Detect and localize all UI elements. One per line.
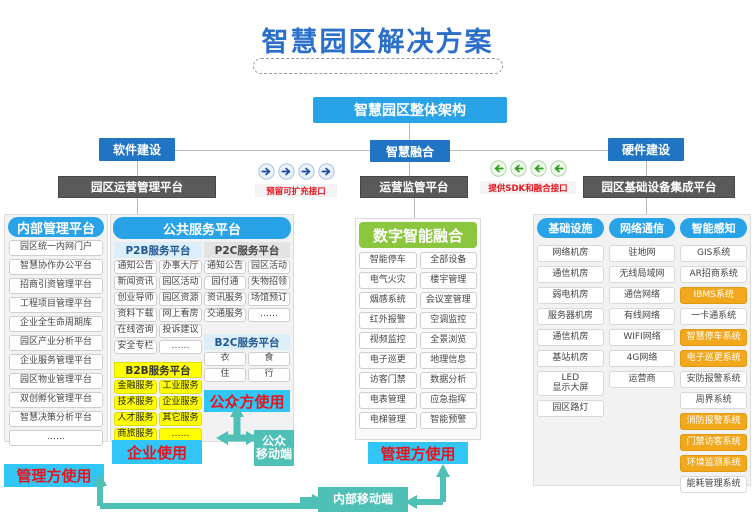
item-cell[interactable]: IBMS系统 xyxy=(680,287,747,304)
platform-park-operation-management: 园区运营管理平台 xyxy=(58,176,216,198)
teal-arrow-cluster-public xyxy=(216,405,258,467)
item-cell[interactable]: 双创孵化管理平台 xyxy=(9,392,103,408)
hardware-column-list: 网络机房通信机房弱电机房服务器机房通信机房基站机房LED 显示大屏园区路灯 xyxy=(537,245,604,417)
item-cell[interactable]: 有线网络 xyxy=(609,308,676,325)
connector-software-panel-drop xyxy=(137,198,138,214)
digital-fusion-header: 数字智能融合 xyxy=(359,222,477,248)
item-cell[interactable]: 弱电机房 xyxy=(537,287,604,304)
item-cell[interactable]: …… xyxy=(9,430,103,446)
page-title: 智慧园区解决方案 xyxy=(0,20,755,59)
item-cell[interactable]: 消防报警系统 xyxy=(680,413,747,430)
item-cell[interactable]: 企业全生命周期库 xyxy=(9,316,103,332)
item-cell[interactable]: 住 xyxy=(204,368,246,382)
item-cell[interactable]: 环境监测系统 xyxy=(680,455,747,472)
item-cell[interactable]: 通信机房 xyxy=(537,266,604,283)
item-cell[interactable]: 行 xyxy=(248,368,290,382)
internal-management-list: 园区统一内网门户智慧协作办公平台招商引资管理平台工程项目管理平台企业全生命周期库… xyxy=(9,240,103,446)
item-cell[interactable]: 交通服务 xyxy=(204,308,246,322)
platform-infrastructure-integration: 园区基础设备集成平台 xyxy=(583,176,735,198)
item-cell[interactable]: 企业服务 xyxy=(159,396,202,410)
item-cell[interactable]: …… xyxy=(248,308,290,322)
item-cell[interactable]: 楼宇管理 xyxy=(420,272,478,289)
item-cell[interactable]: 园付通 xyxy=(204,276,246,290)
connector-hardware-panel-drop xyxy=(646,198,647,214)
item-cell[interactable]: …… xyxy=(159,340,202,354)
item-cell[interactable]: 园区产业分析平台 xyxy=(9,335,103,351)
teal-arrow-right-elbow xyxy=(405,462,465,512)
internal-management-header: 内部管理平台 xyxy=(8,217,104,237)
hardware-column-list: GIS系统AR招商系统IBMS系统一卡通系统智慧停车系统电子巡更系统安防报警系统… xyxy=(680,245,747,493)
item-cell[interactable]: 驻地网 xyxy=(609,245,676,262)
p2b-subheader: P2B服务平台 xyxy=(114,242,202,258)
item-cell[interactable]: 失物招领 xyxy=(248,276,290,290)
item-cell[interactable]: 访客门禁 xyxy=(359,372,417,389)
item-cell[interactable]: 安全专栏 xyxy=(114,340,157,354)
item-cell[interactable]: 网上看房 xyxy=(159,308,202,322)
item-cell[interactable]: 电气火灾 xyxy=(359,272,417,289)
usage-badge-manager-center: 管理方使用 xyxy=(368,442,468,464)
item-cell[interactable]: 电表管理 xyxy=(359,392,417,409)
arrow-left-circle-icon xyxy=(510,160,527,181)
item-cell[interactable]: 在线咨询 xyxy=(114,324,157,338)
expandable-interface-group: 预留可扩充接口 xyxy=(255,163,337,197)
node-smart-fusion: 智慧融合 xyxy=(370,140,450,162)
item-cell[interactable]: 电子巡更系统 xyxy=(680,350,747,367)
hardware-columns: 基础设施网络机房通信机房弱电机房服务器机房通信机房基站机房LED 显示大屏园区路… xyxy=(537,218,747,493)
item-cell[interactable]: 烟感系统 xyxy=(359,292,417,309)
item-cell[interactable]: 投诉建议 xyxy=(159,324,202,338)
item-cell[interactable]: 其它服务 xyxy=(159,412,202,426)
item-cell[interactable]: 全景浏览 xyxy=(420,332,478,349)
public-mobile-box: 公众 移动端 xyxy=(254,430,294,466)
sdk-interface-label: 提供SDK和融合接口 xyxy=(480,181,576,194)
item-cell[interactable]: 应急指挥 xyxy=(420,392,478,409)
arrow-left-circle-icon xyxy=(550,160,567,181)
item-cell[interactable]: 资讯服务 xyxy=(204,292,246,306)
item-cell[interactable]: 智能停车 xyxy=(359,252,417,269)
item-cell[interactable]: 园区统一内网门户 xyxy=(9,240,103,256)
item-cell[interactable]: 电子巡更 xyxy=(359,352,417,369)
item-cell[interactable]: 园区活动 xyxy=(248,260,290,274)
item-cell[interactable]: 技术服务 xyxy=(114,396,157,410)
item-cell[interactable]: 能耗管理系统 xyxy=(680,476,747,493)
item-cell[interactable]: 工业服务 xyxy=(159,380,202,394)
p2c-item-grid: 通知公告园区活动园付通失物招领资讯服务场馆预订交通服务…… xyxy=(204,260,290,322)
item-cell[interactable]: 创业导师 xyxy=(114,292,157,306)
item-cell[interactable]: 数据分析 xyxy=(420,372,478,389)
arrow-right-circle-icon xyxy=(278,163,295,184)
item-cell[interactable]: 全部设备 xyxy=(420,252,478,269)
item-cell[interactable]: 一卡通系统 xyxy=(680,308,747,325)
item-cell[interactable]: WIFI网络 xyxy=(609,329,676,346)
item-cell[interactable]: 衣 xyxy=(204,352,246,366)
item-cell[interactable]: 智慧停车系统 xyxy=(680,329,747,346)
b2b-item-grid: 金融服务工业服务技术服务企业服务人才服务其它服务商旅服务…… xyxy=(114,380,202,442)
item-cell[interactable]: 办事大厅 xyxy=(159,260,202,274)
platform-operation-supervision: 运营监管平台 xyxy=(360,176,468,198)
item-cell[interactable]: 基站机房 xyxy=(537,350,604,367)
item-cell[interactable]: 会议室管理 xyxy=(420,292,478,309)
item-cell[interactable]: 空调监控 xyxy=(420,312,478,329)
diagram-canvas: 智慧园区解决方案 智慧园区整体架构 智慧融合 软件建设 硬件建设 园区运营管理平… xyxy=(0,0,755,532)
hardware-column-3: 智能感知GIS系统AR招商系统IBMS系统一卡通系统智慧停车系统电子巡更系统安防… xyxy=(680,218,747,493)
digital-fusion-grid: 智能停车全部设备电气火灾楼宇管理烟感系统会议室管理红外报警空调监控视频监控全景浏… xyxy=(359,252,477,429)
arrow-left-circle-icon xyxy=(530,160,547,181)
node-software-construction: 软件建设 xyxy=(99,138,175,161)
item-cell[interactable]: 企业服务管理平台 xyxy=(9,354,103,370)
item-cell[interactable]: 视频监控 xyxy=(359,332,417,349)
hardware-column-header: 基础设施 xyxy=(537,218,604,238)
teal-arrow-left-bottom xyxy=(45,468,335,512)
item-cell[interactable]: 周界系统 xyxy=(680,392,747,409)
item-cell[interactable]: 招商引资管理平台 xyxy=(9,278,103,294)
item-cell[interactable]: 食 xyxy=(248,352,290,366)
item-cell[interactable]: 运营商 xyxy=(609,371,676,388)
b2c-item-grid: 衣食住行 xyxy=(204,352,290,382)
item-cell[interactable]: 服务器机房 xyxy=(537,308,604,325)
arrow-left-circle-icon xyxy=(490,160,507,181)
hardware-column-header: 网络通信 xyxy=(609,218,676,238)
connector-root-to-center xyxy=(409,123,410,140)
public-mobile-label: 公众 移动端 xyxy=(256,435,292,461)
item-cell[interactable]: 金融服务 xyxy=(114,380,157,394)
arrow-right-circle-icon xyxy=(318,163,335,184)
item-cell[interactable]: 智慧协作办公平台 xyxy=(9,259,103,275)
node-hardware-construction: 硬件建设 xyxy=(608,138,684,161)
item-cell[interactable]: 通信网络 xyxy=(609,287,676,304)
hardware-column-header: 智能感知 xyxy=(680,218,747,238)
teal-arrow-into-internal-mobile xyxy=(300,492,324,508)
item-cell[interactable]: 智慧决策分析平台 xyxy=(9,411,103,427)
title-underline-decoration xyxy=(253,58,503,74)
b2b-subheader: B2B服务平台 xyxy=(114,362,202,378)
item-cell[interactable]: 智能预警 xyxy=(420,412,478,429)
item-cell[interactable]: 安防报警系统 xyxy=(680,371,747,388)
hardware-column-2: 网络通信驻地网无线局域网通信网络有线网络WIFI网络4G网络运营商 xyxy=(609,218,676,493)
expandable-interface-label: 预留可扩充接口 xyxy=(255,184,337,197)
item-cell[interactable]: 工程项目管理平台 xyxy=(9,297,103,313)
item-cell[interactable]: 红外报警 xyxy=(359,312,417,329)
root-node-overall-architecture: 智慧园区整体架构 xyxy=(313,97,507,123)
item-cell[interactable]: 门禁访客系统 xyxy=(680,434,747,451)
item-cell[interactable]: 通知公告 xyxy=(114,260,157,274)
public-service-header: 公共服务平台 xyxy=(113,217,291,239)
sdk-interface-group: 提供SDK和融合接口 xyxy=(480,160,576,196)
p2c-subheader: P2C服务平台 xyxy=(204,242,290,258)
item-cell[interactable]: 园区资源 xyxy=(159,292,202,306)
arrow-right-circle-icon xyxy=(298,163,315,184)
hardware-column-1: 基础设施网络机房通信机房弱电机房服务器机房通信机房基站机房LED 显示大屏园区路… xyxy=(537,218,604,493)
item-cell[interactable]: 园区路灯 xyxy=(537,400,604,417)
item-cell[interactable]: 园区活动 xyxy=(159,276,202,290)
p2b-item-grid: 通知公告办事大厅新闻资讯园区活动创业导师园区资源资料下载网上看房在线咨询投诉建议… xyxy=(114,260,202,354)
item-cell[interactable]: 场馆预订 xyxy=(248,292,290,306)
item-cell[interactable]: 电梯管理 xyxy=(359,412,417,429)
arrow-right-circle-icon xyxy=(258,163,275,184)
item-cell[interactable]: 人才服务 xyxy=(114,412,157,426)
item-cell[interactable]: GIS系统 xyxy=(680,245,747,262)
item-cell[interactable]: 通信机房 xyxy=(537,329,604,346)
item-cell[interactable]: 网络机房 xyxy=(537,245,604,262)
hardware-column-list: 驻地网无线局域网通信网络有线网络WIFI网络4G网络运营商 xyxy=(609,245,676,388)
b2c-subheader: B2C服务平台 xyxy=(204,334,290,350)
usage-badge-enterprise: 企业使用 xyxy=(112,440,202,464)
item-cell[interactable]: LED 显示大屏 xyxy=(537,371,604,396)
item-cell[interactable]: 4G网络 xyxy=(609,350,676,367)
item-cell[interactable]: 新闻资讯 xyxy=(114,276,157,290)
item-cell[interactable]: 无线局域网 xyxy=(609,266,676,283)
item-cell[interactable]: AR招商系统 xyxy=(680,266,747,283)
item-cell[interactable]: 地理信息 xyxy=(420,352,478,369)
item-cell[interactable]: 通知公告 xyxy=(204,260,246,274)
item-cell[interactable]: 资料下载 xyxy=(114,308,157,322)
item-cell[interactable]: 园区物业管理平台 xyxy=(9,373,103,389)
connector-fusion-panel-drop xyxy=(414,198,415,218)
